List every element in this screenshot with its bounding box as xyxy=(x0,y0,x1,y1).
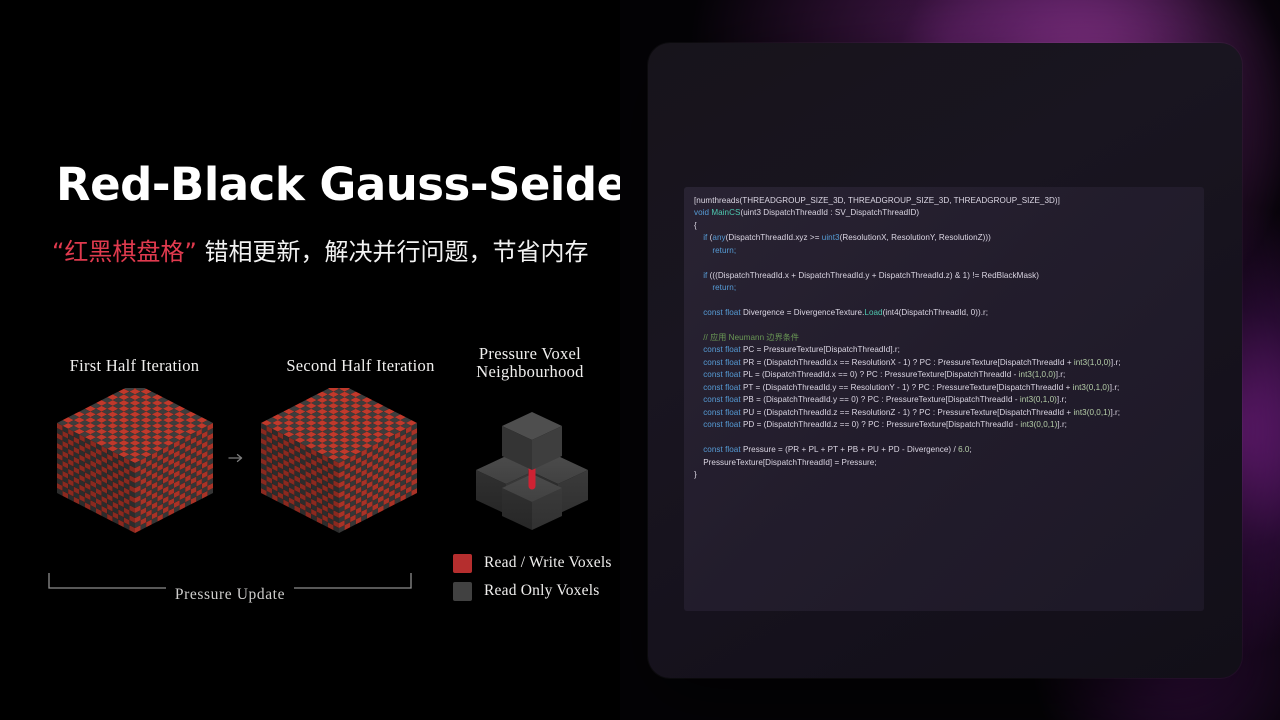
page-title: Red-Black Gauss-Seidel xyxy=(56,158,642,211)
voxel-neighbourhood-diagram xyxy=(462,398,602,530)
left-panel: Red-Black Gauss-Seidel “红黑棋盘格” 错相更新，解决并行… xyxy=(0,0,640,720)
subtitle-rest: 错相更新，解决并行问题，节省内存 xyxy=(197,238,589,266)
code-text: [numthreads(THREADGROUP_SIZE_3D, THREADG… xyxy=(694,195,1194,481)
code-block[interactable]: [numthreads(THREADGROUP_SIZE_3D, THREADG… xyxy=(684,187,1204,611)
bracket-label-text: Pressure Update xyxy=(166,586,294,603)
bracket-label: Pressure Update xyxy=(48,586,412,604)
caption-second-half-iteration: Second Half Iteration xyxy=(278,357,443,375)
voxel-cube-first-half xyxy=(40,388,230,578)
legend-item-read-write: Read / Write Voxels xyxy=(453,549,612,577)
page-subtitle: “红黑棋盘格” 错相更新，解决并行问题，节省内存 xyxy=(52,232,589,267)
caption-pressure-voxel-neighbourhood: Pressure Voxel Neighbourhood xyxy=(455,345,605,382)
legend: Read / Write Voxels Read Only Voxels xyxy=(453,549,612,605)
slide-root: Red-Black Gauss-Seidel “红黑棋盘格” 错相更新，解决并行… xyxy=(0,0,1280,720)
legend-swatch-read-write xyxy=(453,554,472,573)
voxel-cube-second-half xyxy=(244,388,434,578)
caption-first-half-iteration: First Half Iteration xyxy=(52,357,217,375)
caption-neighbourhood-line1: Pressure Voxel xyxy=(455,345,605,363)
legend-label-read-only: Read Only Voxels xyxy=(484,582,599,600)
code-card: [numthreads(THREADGROUP_SIZE_3D, THREADG… xyxy=(648,43,1242,678)
legend-label-read-write: Read / Write Voxels xyxy=(484,554,612,572)
voxel-cube-second-half-svg xyxy=(244,388,434,578)
caption-neighbourhood-line2: Neighbourhood xyxy=(455,363,605,381)
right-panel: [numthreads(THREADGROUP_SIZE_3D, THREADG… xyxy=(620,0,1280,720)
legend-swatch-read-only xyxy=(453,582,472,601)
legend-item-read-only: Read Only Voxels xyxy=(453,577,612,605)
subtitle-highlight: “红黑棋盘格” xyxy=(52,238,197,266)
voxel-cube-first-half-svg xyxy=(40,388,230,578)
